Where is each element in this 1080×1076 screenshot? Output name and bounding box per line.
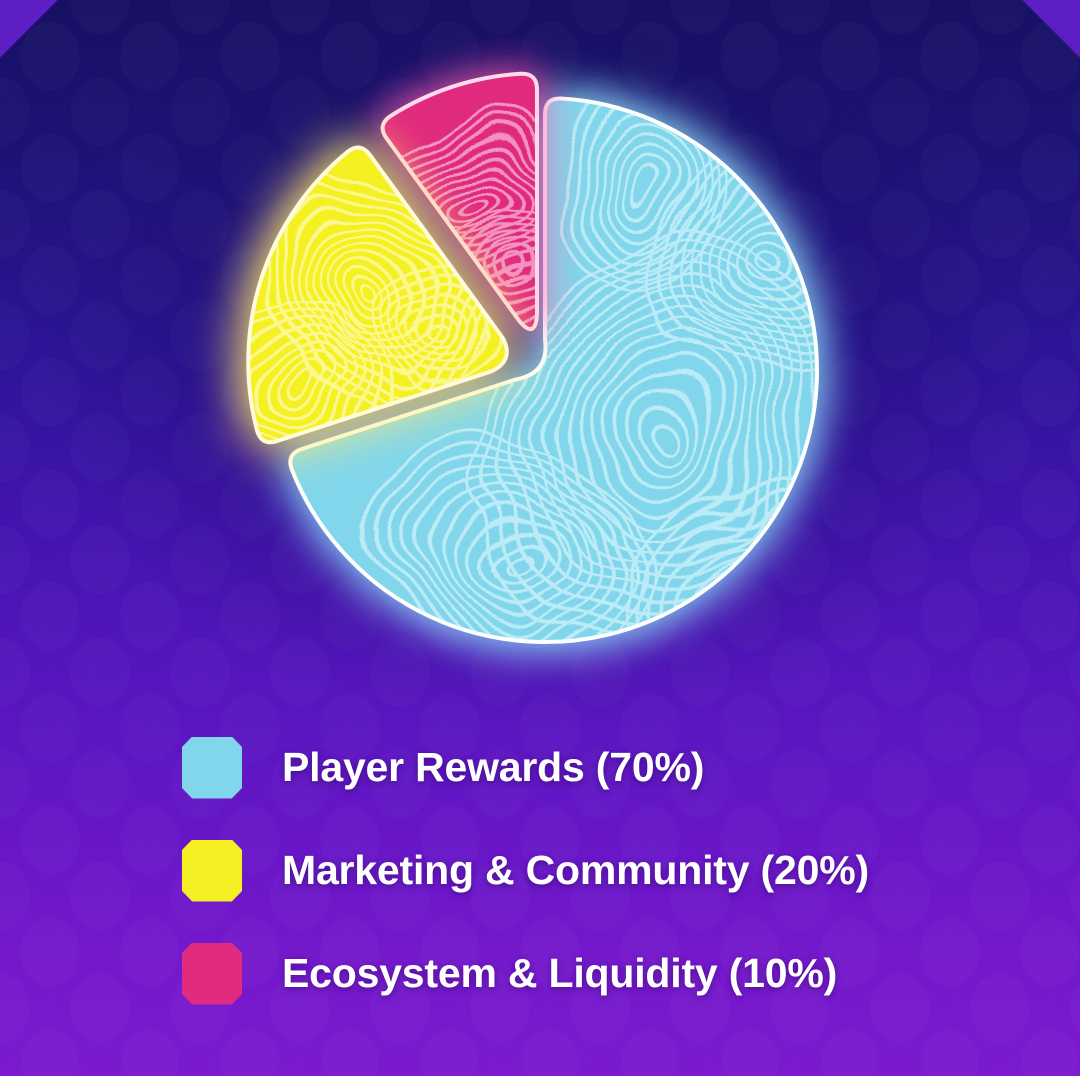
- legend-swatch-marketing-community-icon: [182, 840, 242, 902]
- pie-chart-svg: [0, 0, 1080, 700]
- pie-chart: [0, 0, 1080, 700]
- legend-label-ecosystem-liquidity: Ecosystem & Liquidity (10%): [282, 950, 837, 997]
- legend-item-player-rewards[interactable]: Player Rewards (70%): [182, 716, 1080, 819]
- legend-swatch-ecosystem-liquidity-icon: [182, 943, 242, 1005]
- legend-label-marketing-community: Marketing & Community (20%): [282, 847, 869, 894]
- legend-item-ecosystem-liquidity[interactable]: Ecosystem & Liquidity (10%): [182, 922, 1080, 1025]
- legend-swatch-player-rewards-icon: [182, 737, 242, 799]
- pie-slice-player-rewards[interactable]: [0, 0, 1080, 700]
- tokenomics-pie-card: Player Rewards (70%) Marketing & Communi…: [0, 0, 1080, 1076]
- legend-label-player-rewards: Player Rewards (70%): [282, 744, 704, 791]
- legend-item-marketing-community[interactable]: Marketing & Community (20%): [182, 819, 1080, 922]
- chart-legend: Player Rewards (70%) Marketing & Communi…: [0, 716, 1080, 1025]
